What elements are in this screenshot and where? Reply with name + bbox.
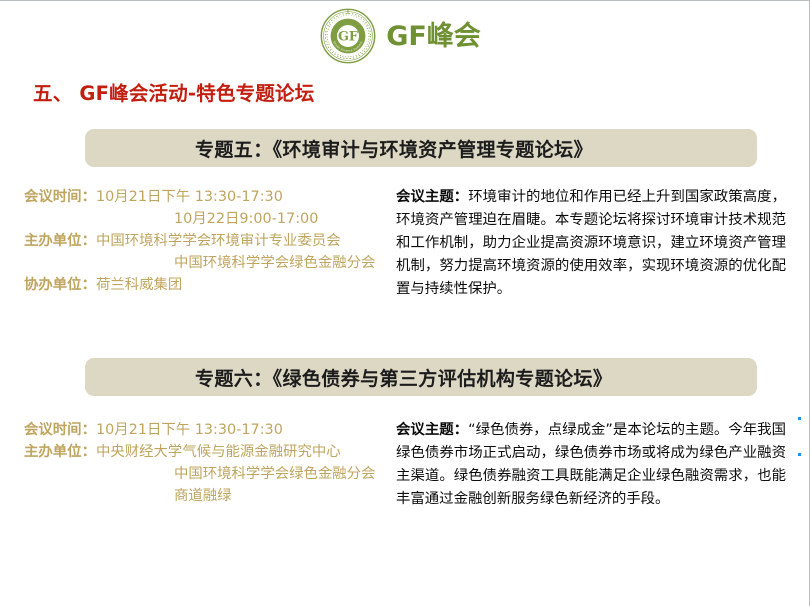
svg-text:GF: GF	[338, 30, 358, 45]
meta-value-line: 10月22日9:00-17:00	[96, 208, 384, 230]
meta-row: 主办单位： 中国环境科学学会环境审计专业委员会 中国环境科学学会绿色金融分会	[24, 230, 384, 274]
theme-text: 环境审计的地位和作用已经上升到国家政策高度，环境资产管理迫在眉睫。本专题论坛将探…	[396, 189, 786, 297]
meta-value: 荷兰科威集团	[96, 274, 384, 296]
meta-value-line: 10月21日下午 13:30-17:30	[96, 189, 283, 205]
edge-marker	[798, 417, 801, 420]
meta-row: 主办单位： 中央财经大学气候与能源金融研究中心 中国环境科学学会绿色金融分会 商…	[24, 441, 384, 507]
theme-label: 会议主题：	[396, 422, 468, 438]
topic-bar-title: 专题六：《绿色债券与第三方评估机构专题论坛》	[85, 364, 612, 391]
meta-key: 协办单位：	[24, 274, 96, 296]
meta-key: 会议时间：	[24, 186, 96, 208]
topic-theme-5: 会议主题：环境审计的地位和作用已经上升到国家政策高度，环境资产管理迫在眉睫。本专…	[396, 186, 786, 301]
meta-value: 10月21日下午 13:30-17:30 10月22日9:00-17:00	[96, 186, 384, 230]
meta-value: 10月21日下午 13:30-17:30	[96, 419, 384, 441]
edge-marker	[798, 453, 801, 456]
meta-key: 会议时间：	[24, 419, 96, 441]
meta-value-line: 商道融绿	[96, 485, 384, 507]
topic-theme-6: 会议主题：“绿色债券，点绿成金”是本论坛的主题。今年我国绿色债券市场正式启动，绿…	[396, 419, 786, 511]
meta-key: 主办单位：	[24, 230, 96, 252]
brand-wordmark: GF峰会	[386, 23, 481, 50]
topic-bar-6: 专题六：《绿色债券与第三方评估机构专题论坛》	[85, 358, 757, 396]
topic-bar-5: 专题五：《环境审计与环境资产管理专题论坛》	[85, 129, 757, 167]
meta-value-line: 中国环境科学学会环境审计专业委员会	[96, 233, 341, 249]
meta-row: 协办单位： 荷兰科威集团	[24, 274, 384, 296]
topic-bar-title: 专题五：《环境审计与环境资产管理专题论坛》	[85, 135, 593, 162]
meta-row: 会议时间： 10月21日下午 13:30-17:30	[24, 419, 384, 441]
theme-label: 会议主题：	[396, 189, 468, 205]
meta-key: 主办单位：	[24, 441, 96, 463]
masthead: GF 中国绿色金融峰会组委会 Green Finance Summit GF峰会	[0, 5, 800, 67]
page-title: 五、 GF峰会活动-特色专题论坛	[33, 77, 314, 106]
meta-value: 中央财经大学气候与能源金融研究中心 中国环境科学学会绿色金融分会 商道融绿	[96, 441, 384, 507]
topic-meta-list-6: 会议时间： 10月21日下午 13:30-17:30 主办单位： 中央财经大学气…	[24, 419, 384, 507]
meta-value-line: 中央财经大学气候与能源金融研究中心	[96, 444, 341, 460]
meta-value-line: 10月21日下午 13:30-17:30	[96, 422, 283, 438]
meta-value-line: 荷兰科威集团	[96, 277, 182, 293]
meta-row: 会议时间： 10月21日下午 13:30-17:30 10月22日9:00-17…	[24, 186, 384, 230]
topic-meta-list-5: 会议时间： 10月21日下午 13:30-17:30 10月22日9:00-17…	[24, 186, 384, 296]
gf-summit-circular-emblem-icon: GF 中国绿色金融峰会组委会 Green Finance Summit	[319, 7, 377, 65]
slide-page: GF 中国绿色金融峰会组委会 Green Finance Summit GF峰会…	[0, 0, 810, 606]
meta-value-line: 中国环境科学学会绿色金融分会	[96, 463, 384, 485]
meta-value: 中国环境科学学会环境审计专业委员会 中国环境科学学会绿色金融分会	[96, 230, 384, 274]
meta-value-line: 中国环境科学学会绿色金融分会	[96, 252, 384, 274]
